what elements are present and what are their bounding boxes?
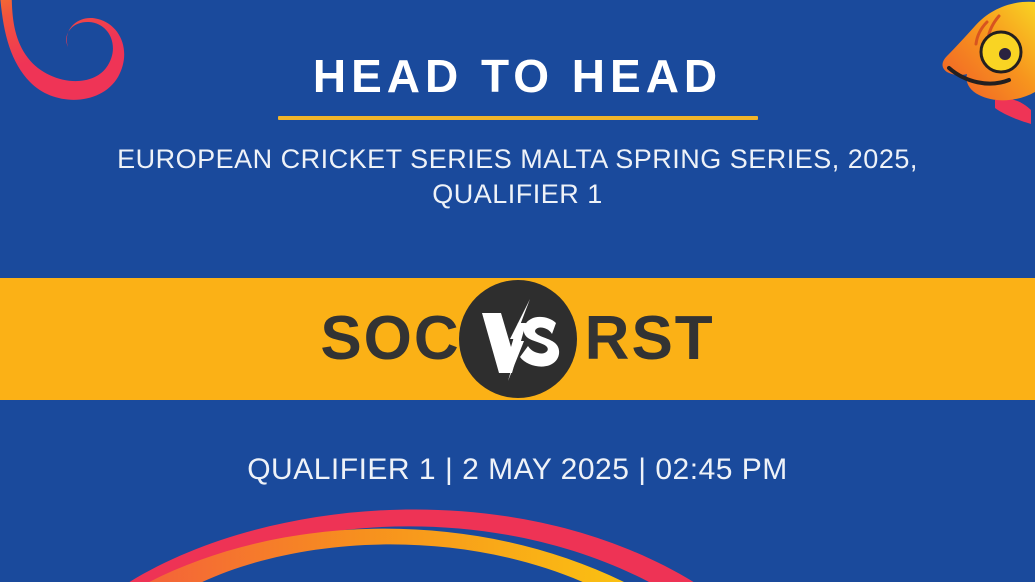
poster-header: HEAD TO HEAD EUROPEAN CRICKET SERIES MAL… — [0, 0, 1035, 212]
away-team-code: RST — [585, 308, 715, 370]
versus-band: SOC RST — [0, 278, 1035, 400]
home-team-code: SOC — [320, 308, 460, 370]
series-subtitle: EUROPEAN CRICKET SERIES MALTA SPRING SER… — [53, 142, 983, 212]
match-meta-line: QUALIFIER 1 | 2 MAY 2025 | 02:45 PM — [0, 452, 1035, 488]
title-underline-rule — [278, 116, 758, 120]
page-title: HEAD TO HEAD — [0, 0, 1035, 100]
head-to-head-poster: HEAD TO HEAD EUROPEAN CRICKET SERIES MAL… — [0, 0, 1035, 582]
versus-badge-icon — [459, 280, 577, 398]
